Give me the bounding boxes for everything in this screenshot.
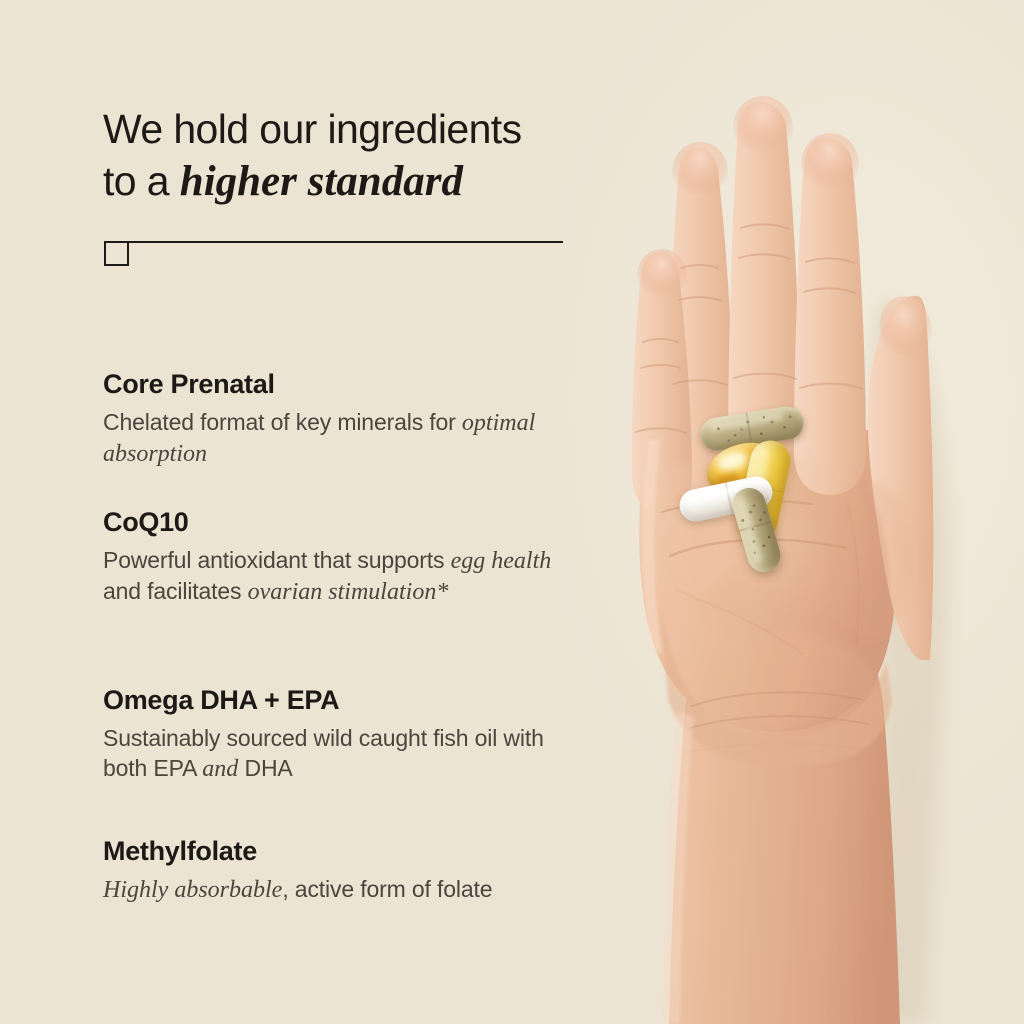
desc-part-regular: and facilitates	[103, 578, 248, 604]
desc-part-emphasis: Highly absorbable	[103, 877, 282, 903]
ingredient-item-coq10: CoQ10 Powerful antioxidant that supports…	[103, 505, 573, 607]
ingredient-description: Powerful antioxidant that supports egg h…	[103, 545, 573, 607]
ingredient-title: Omega DHA + EPA	[103, 683, 573, 717]
ingredient-title: Methylfolate	[103, 834, 573, 868]
headline-line-2-emphasis: higher standard	[180, 158, 463, 205]
ingredient-description: Chelated format of key minerals for opti…	[103, 407, 573, 469]
ingredient-title: Core Prenatal	[103, 367, 573, 401]
page-title: We hold our ingredients to a higher stan…	[103, 103, 583, 208]
ingredient-description: Sustainably sourced wild caught fish oil…	[103, 723, 573, 784]
desc-part-regular: DHA	[238, 755, 292, 781]
ingredient-standard-graphic: We hold our ingredients to a higher stan…	[0, 0, 1024, 1024]
ingredient-item-methylfolate: Methylfolate Highly absorbable, active f…	[103, 834, 573, 905]
copy-column: We hold our ingredients to a higher stan…	[103, 0, 573, 1024]
ingredient-description: Highly absorbable, active form of folate	[103, 874, 573, 905]
ingredient-item-core-prenatal: Core Prenatal Chelated format of key min…	[103, 367, 573, 469]
desc-part-emphasis: egg health	[451, 548, 552, 574]
divider	[104, 241, 564, 271]
headline-line-2-plain: to a	[103, 158, 180, 204]
divider-rule	[129, 241, 563, 243]
desc-part-emphasis: ovarian stimulation*	[248, 579, 449, 605]
ingredient-item-omega-dha-epa: Omega DHA + EPA Sustainably sourced wild…	[103, 683, 573, 784]
desc-part-regular: Powerful antioxidant that supports	[103, 547, 451, 573]
desc-part-regular: Sustainably sourced wild caught fish oil…	[103, 725, 544, 781]
background-glow	[560, 0, 1024, 1024]
headline-line-1: We hold our ingredients	[103, 106, 521, 152]
desc-part-regular: Chelated format of key minerals for	[103, 409, 462, 435]
ingredient-title: CoQ10	[103, 505, 573, 539]
divider-square-icon	[104, 241, 129, 266]
desc-part-regular: , active form of folate	[282, 876, 492, 902]
desc-part-emphasis: and	[202, 756, 238, 782]
